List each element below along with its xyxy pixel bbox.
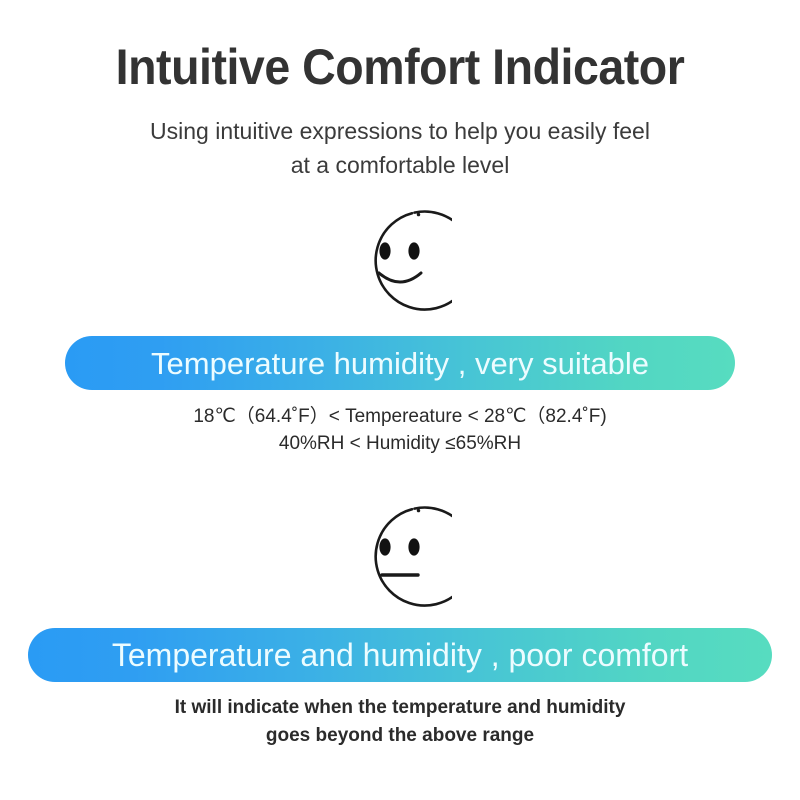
smiley-face [348,207,452,311]
page-subtitle: Using intuitive expressions to help you … [0,114,800,182]
poor-comfort-caption-line-1: It will indicate when the temperature an… [0,694,800,722]
status-banner-poor-comfort-label: Temperature and humidity , poor comfort [112,639,688,671]
status-banner-comfortable: Temperature humidity , very suitable [65,336,735,390]
comfortable-range-text: 18℃（64.4˚F）< Tempereature < 28℃（82.4˚F) … [0,403,800,457]
subtitle-line-1: Using intuitive expressions to help you … [0,114,800,148]
page-title: Intuitive Comfort Indicator [28,38,772,96]
comfortable-humidity-range: 40%RH < Humidity ≤65%RH [0,430,800,457]
comfortable-temperature-range: 18℃（64.4˚F）< Tempereature < 28℃（82.4˚F) [0,403,800,430]
poor-comfort-caption-line-2: goes beyond the above range [0,722,800,750]
neutral-face [348,503,452,607]
poor-comfort-caption: It will indicate when the temperature an… [0,694,800,750]
subtitle-line-2: at a comfortable level [0,148,800,182]
comfort-indicator-infographic: Intuitive Comfort Indicator Using intuit… [0,0,800,800]
status-banner-comfortable-label: Temperature humidity , very suitable [151,348,649,379]
status-banner-poor-comfort: Temperature and humidity , poor comfort [28,628,772,682]
